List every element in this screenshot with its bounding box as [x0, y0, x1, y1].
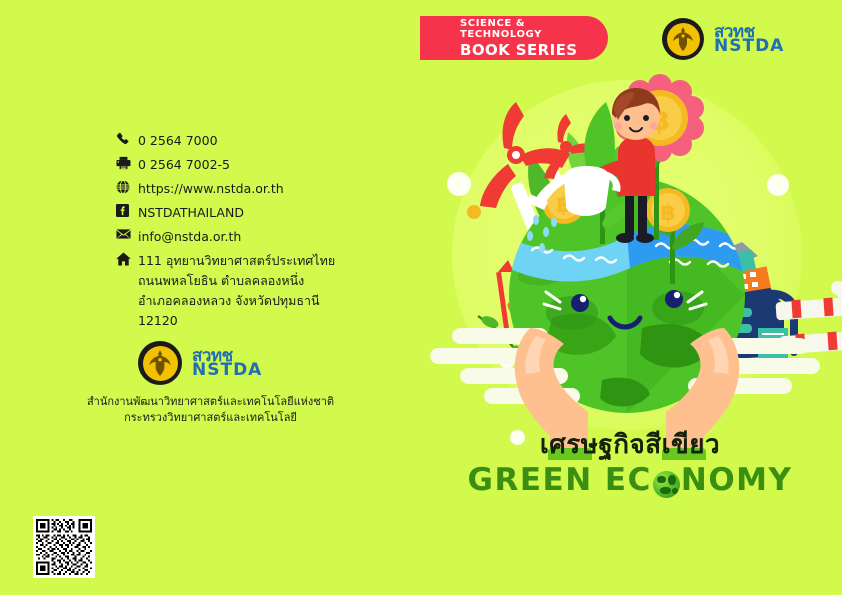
- header-nstda-logo: สวทช NSTDA: [662, 16, 812, 62]
- contact-row-facebook[interactable]: NSTDATHAILAND: [116, 203, 376, 222]
- page-title-english: GREEN EC NOMY: [430, 462, 830, 498]
- facebook-icon: [116, 203, 138, 217]
- qr-code-image: [36, 519, 92, 575]
- poster-page: SCIENCE & TECHNOLOGY BOOK SERIES สวทช NS…: [0, 0, 842, 595]
- nstda-wordmark-english: NSTDA: [192, 362, 262, 379]
- address-line-4: 12120: [138, 313, 178, 328]
- address-line-3: อำเภอคลองหลวง จังหวัดปทุมธานี: [138, 293, 320, 308]
- eye: [665, 290, 683, 308]
- contact-block: 0 2564 7000 0 2564 7002-5 https://www.ns…: [116, 131, 376, 336]
- home-icon: [116, 251, 138, 266]
- illustration-svg: ฿ ฿ ฿: [412, 60, 842, 460]
- garuda-glyph: [671, 26, 695, 52]
- badge-line-2: TECHNOLOGY: [460, 29, 608, 40]
- organization-line-2: กระทรวงวิทยาศาสตร์และเทคโนโลยี: [78, 410, 343, 426]
- phone-number: 0 2564 7000: [138, 131, 218, 150]
- email-address[interactable]: info@nstda.or.th: [138, 227, 241, 246]
- facebook-handle[interactable]: NSTDATHAILAND: [138, 203, 244, 222]
- phone-icon: [116, 131, 138, 146]
- footer-nstda-logo: สวทช NSTDA: [138, 340, 298, 386]
- green-economy-earth-illustration: ฿ ฿ ฿: [412, 60, 842, 460]
- contact-row-website[interactable]: https://www.nstda.or.th: [116, 179, 376, 198]
- fax-icon: [116, 155, 138, 170]
- address-line-1: 111 อุทยานวิทยาศาสตร์ประเทศไทย: [138, 253, 335, 268]
- eye: [571, 294, 589, 312]
- title-english-part-1: GREEN EC: [468, 462, 652, 498]
- contact-row-phone: 0 2564 7000: [116, 131, 376, 150]
- nstda-wordmark: สวทช NSTDA: [192, 348, 262, 379]
- page-title-thai: เศรษฐกิจสีเขียว: [430, 424, 830, 465]
- contact-row-fax: 0 2564 7002-5: [116, 155, 376, 174]
- title-english-part-2: NOMY: [681, 462, 793, 498]
- nstda-wordmark-english: NSTDA: [714, 38, 784, 55]
- book-series-badge: SCIENCE & TECHNOLOGY BOOK SERIES: [420, 16, 608, 60]
- organization-name: สำนักงานพัฒนาวิทยาศาสตร์และเทคโนโลยีแห่ง…: [78, 394, 343, 426]
- globe-letter-o-icon: [653, 471, 680, 498]
- envelope-icon: [116, 227, 138, 240]
- badge-line-1: SCIENCE &: [460, 18, 608, 29]
- website-url[interactable]: https://www.nstda.or.th: [138, 179, 284, 198]
- nstda-wordmark: สวทช NSTDA: [714, 24, 784, 55]
- garuda-seal-icon: [138, 341, 182, 385]
- contact-row-email[interactable]: info@nstda.or.th: [116, 227, 376, 246]
- svg-text:฿: ฿: [660, 201, 675, 226]
- address-text: 111 อุทยานวิทยาศาสตร์ประเทศไทย ถนนพหลโยธ…: [138, 251, 335, 331]
- garuda-glyph: [147, 349, 173, 377]
- organization-line-1: สำนักงานพัฒนาวิทยาศาสตร์และเทคโนโลยีแห่ง…: [78, 394, 343, 410]
- garuda-seal-icon: [662, 18, 704, 60]
- globe-icon: [116, 179, 138, 194]
- address-line-2: ถนนพหลโยธิน ตำบลคลองหนึ่ง: [138, 273, 304, 288]
- contact-row-address: 111 อุทยานวิทยาศาสตร์ประเทศไทย ถนนพหลโยธ…: [116, 251, 376, 331]
- qr-code[interactable]: [33, 516, 95, 578]
- fax-number: 0 2564 7002-5: [138, 155, 230, 174]
- badge-line-3: BOOK SERIES: [460, 41, 608, 59]
